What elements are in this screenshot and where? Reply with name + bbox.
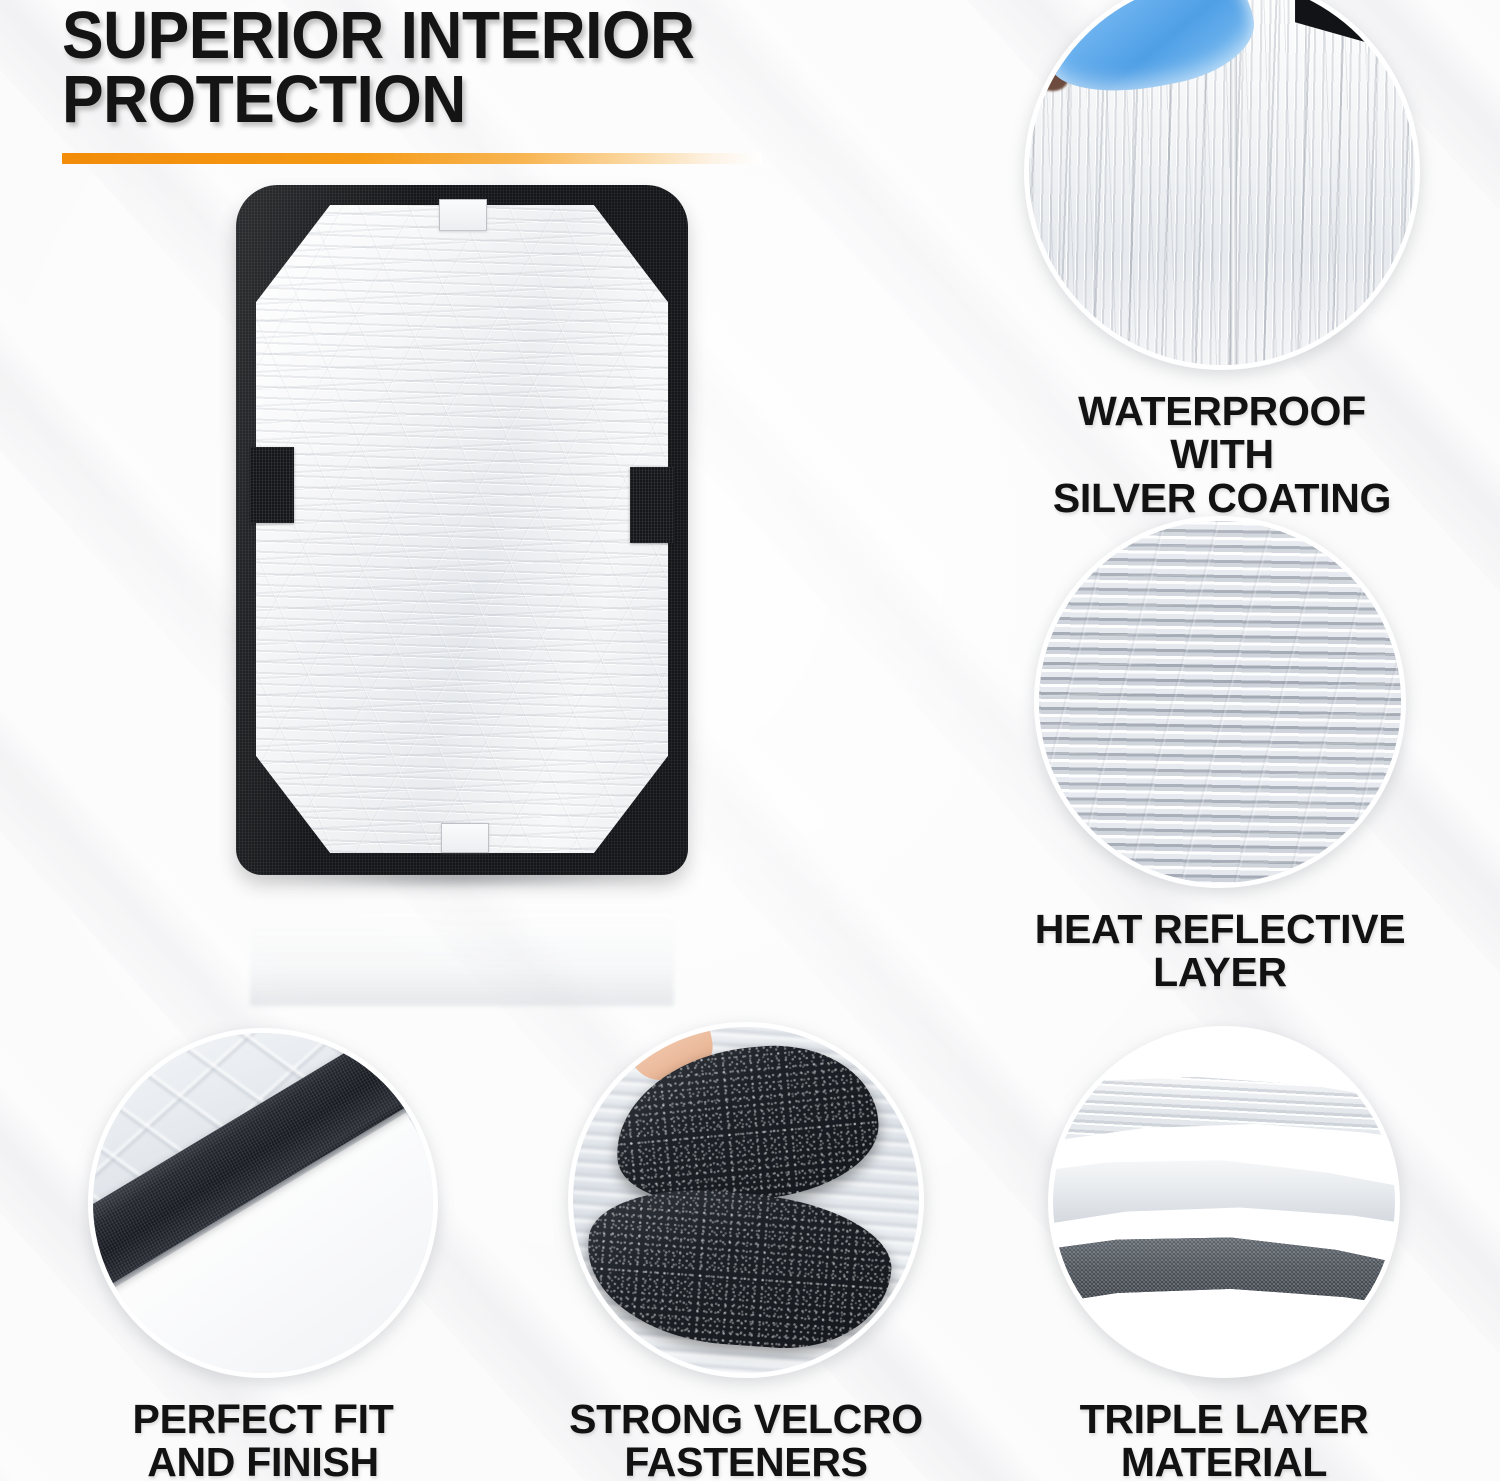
feature-velcro-image bbox=[568, 1022, 924, 1378]
velcro-tab-left bbox=[250, 447, 294, 523]
feature-velcro-caption: STRONG VELCRO FASTENERS bbox=[568, 1398, 924, 1481]
feature-triple-layer-image bbox=[1048, 1026, 1400, 1378]
feature-heat-reflective-caption: HEAT REFLECTIVE LAYER bbox=[1034, 908, 1406, 995]
title-accent-rule bbox=[62, 153, 762, 164]
feature-heat-reflective: HEAT REFLECTIVE LAYER bbox=[1034, 516, 1406, 995]
feature-triple-layer: TRIPLE LAYER MATERIAL bbox=[1048, 1026, 1400, 1481]
feature-waterproof-caption: WATERPROOF WITH SILVER COATING bbox=[1024, 390, 1420, 520]
product-floor-reflection bbox=[250, 874, 674, 1006]
feature-velcro: STRONG VELCRO FASTENERS bbox=[568, 1022, 924, 1481]
page-title: SUPERIOR INTERIOR PROTECTION bbox=[62, 4, 862, 131]
feature-perfect-fit-caption: PERFECT FIT AND FINISH bbox=[88, 1398, 438, 1481]
feature-perfect-fit: PERFECT FIT AND FINISH bbox=[88, 1028, 438, 1481]
headline-block: SUPERIOR INTERIOR PROTECTION bbox=[62, 4, 922, 164]
feature-triple-layer-caption: TRIPLE LAYER MATERIAL bbox=[1048, 1398, 1400, 1481]
feature-perfect-fit-image bbox=[88, 1028, 438, 1378]
feature-heat-reflective-image bbox=[1034, 516, 1406, 888]
velcro-tab-top bbox=[439, 199, 487, 231]
feature-waterproof: WATERPROOF WITH SILVER COATING bbox=[1024, 0, 1420, 520]
feature-waterproof-image bbox=[1024, 0, 1420, 370]
sunshade-foil-face bbox=[256, 205, 668, 853]
velcro-tab-bottom bbox=[441, 823, 489, 853]
horizontal-crinkle-texture bbox=[1039, 521, 1401, 883]
velcro-tab-right bbox=[630, 467, 674, 543]
product-hero-image bbox=[236, 185, 688, 875]
infographic-page: SUPERIOR INTERIOR PROTECTION WATERPROOF … bbox=[0, 0, 1500, 1481]
